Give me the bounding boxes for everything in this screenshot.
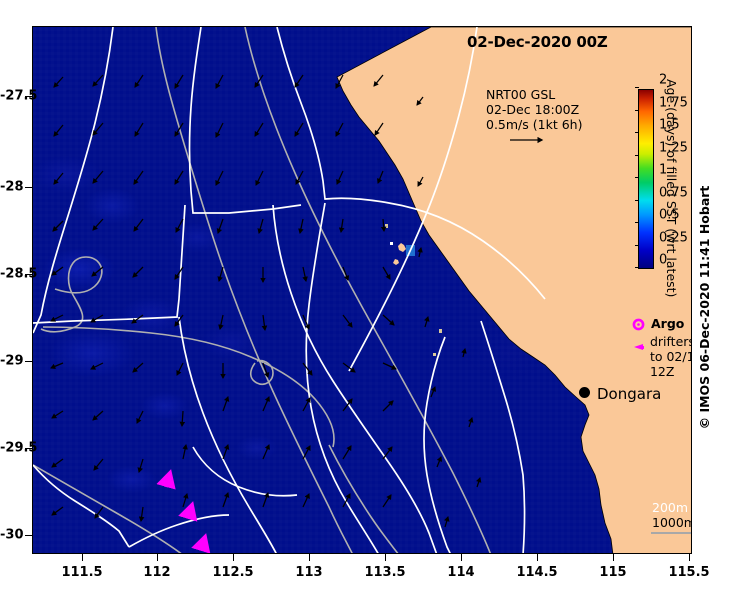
vector-legend-line1: NRT00 GSL [486,87,582,102]
map-plot-area[interactable]: 02-Dec-2020 00Z NRT00 GSL 02-Dec 18:00Z … [32,26,692,554]
y-tick-label: -29.5 [0,441,22,456]
argo-drifter-legend: Argo drifters@6h to 02/12 12Z [632,316,692,379]
y-tick-label: -28.5 [0,267,22,282]
dongara-label: Dongara [597,385,661,403]
y-tick-label: -27.5 [0,89,22,104]
vector-scale-legend: NRT00 GSL 02-Dec 18:00Z 0.5m/s (1kt 6h) [486,87,582,149]
x-tick-label: 114.5 [516,565,557,580]
colorbar-gradient: 0 0.25 0.5 0.75 1 1.25 1.5 1.75 2 [638,89,654,269]
drifter-legend-line1: drifters@6h [650,334,692,349]
imos-credit: © IMOS 06-Dec-2020 11:41 Hobart [697,186,712,430]
depth-200m-label: 200m [652,500,692,515]
x-tick-label: 115.5 [668,565,709,580]
colorbar: 0 0.25 0.5 0.75 1 1.25 1.5 1.75 2 [638,89,654,269]
argo-legend-label: Argo [651,316,684,331]
x-tick-label: 115 [599,565,626,580]
x-tick-label: 114 [447,565,474,580]
drifter-legend-line2: to 02/12 12Z [650,349,692,379]
x-tick-label: 112.5 [212,565,253,580]
depth-1000m-label: 1000m [652,515,692,530]
y-tick-label: -28 [0,180,22,195]
x-tick-label: 112 [143,565,170,580]
map-title: 02-Dec-2020 00Z [467,33,608,51]
vector-legend-line3: 0.5m/s (1kt 6h) [486,117,582,132]
drifter-arrow-icon [632,334,644,362]
vector-scale-arrow-icon [508,134,552,146]
colorbar-title: Age (days) of filled SST (wrt latest) [664,79,679,297]
x-tick-label: 111.5 [61,565,102,580]
y-tick-label: -29 [0,354,22,369]
depth-legend-rule [651,532,692,534]
vector-legend-line2: 02-Dec 18:00Z [486,102,582,117]
x-tick-label: 113.5 [364,565,405,580]
depth-contour-legend: 200m 1000m [652,500,692,530]
dongara-marker [579,387,590,398]
drifter-track-markers [33,27,691,553]
argo-float-icon [632,318,645,331]
x-tick-label: 113 [295,565,322,580]
y-tick-label: -30 [0,528,22,543]
